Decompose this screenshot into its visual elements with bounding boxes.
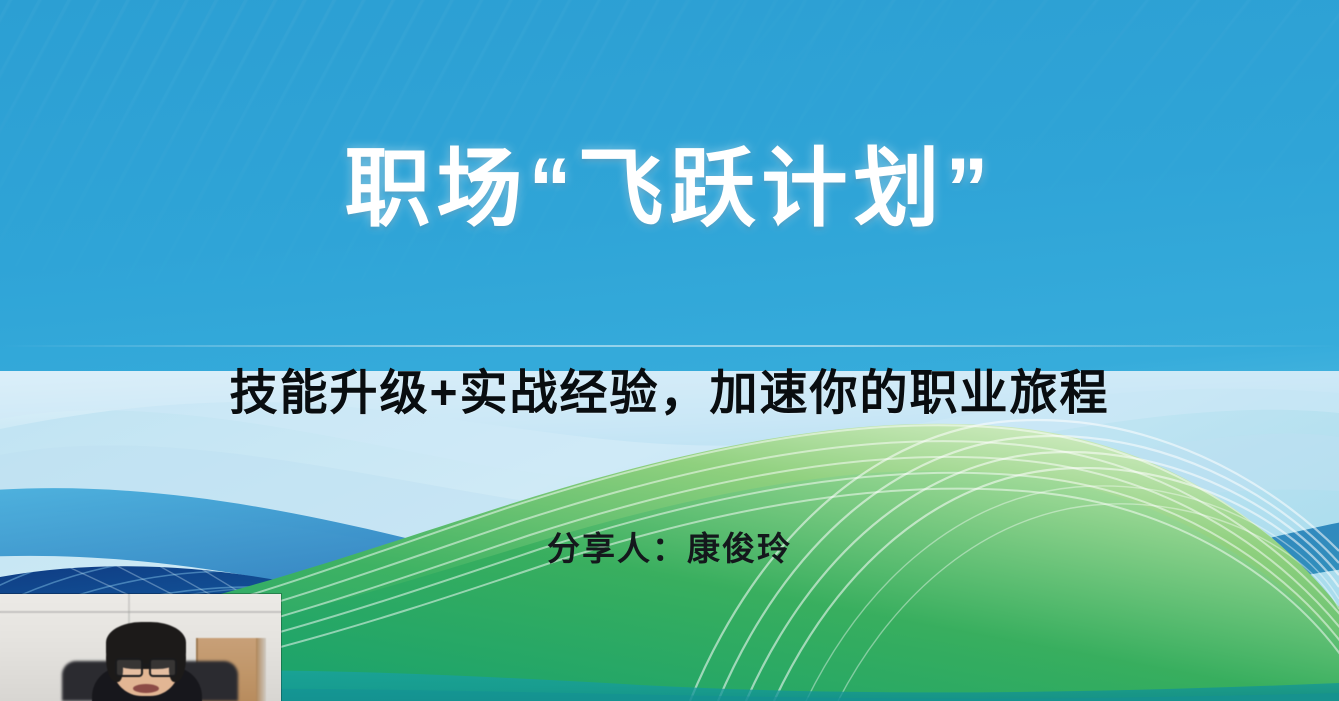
background-hairline — [0, 345, 1339, 347]
glasses-lens-left — [115, 658, 143, 677]
wall-seam-line — [0, 611, 281, 613]
glasses-lens-right — [149, 658, 177, 677]
slide-presenter-line: 分享人：康俊玲 — [0, 522, 1339, 570]
door-frame-edge — [256, 638, 266, 701]
presenter-video-thumbnail[interactable] — [0, 594, 281, 701]
presentation-screen: 职场“飞跃计划” 技能升级+实战经验，加速你的职业旅程 分享人：康俊玲 — [0, 0, 1339, 701]
presenter-glasses — [114, 658, 178, 673]
slide-subtitle: 技能升级+实战经验，加速你的职业旅程 — [0, 368, 1339, 421]
presenter-mouth — [133, 684, 159, 693]
slide-title: 职场“飞跃计划” — [0, 144, 1339, 234]
